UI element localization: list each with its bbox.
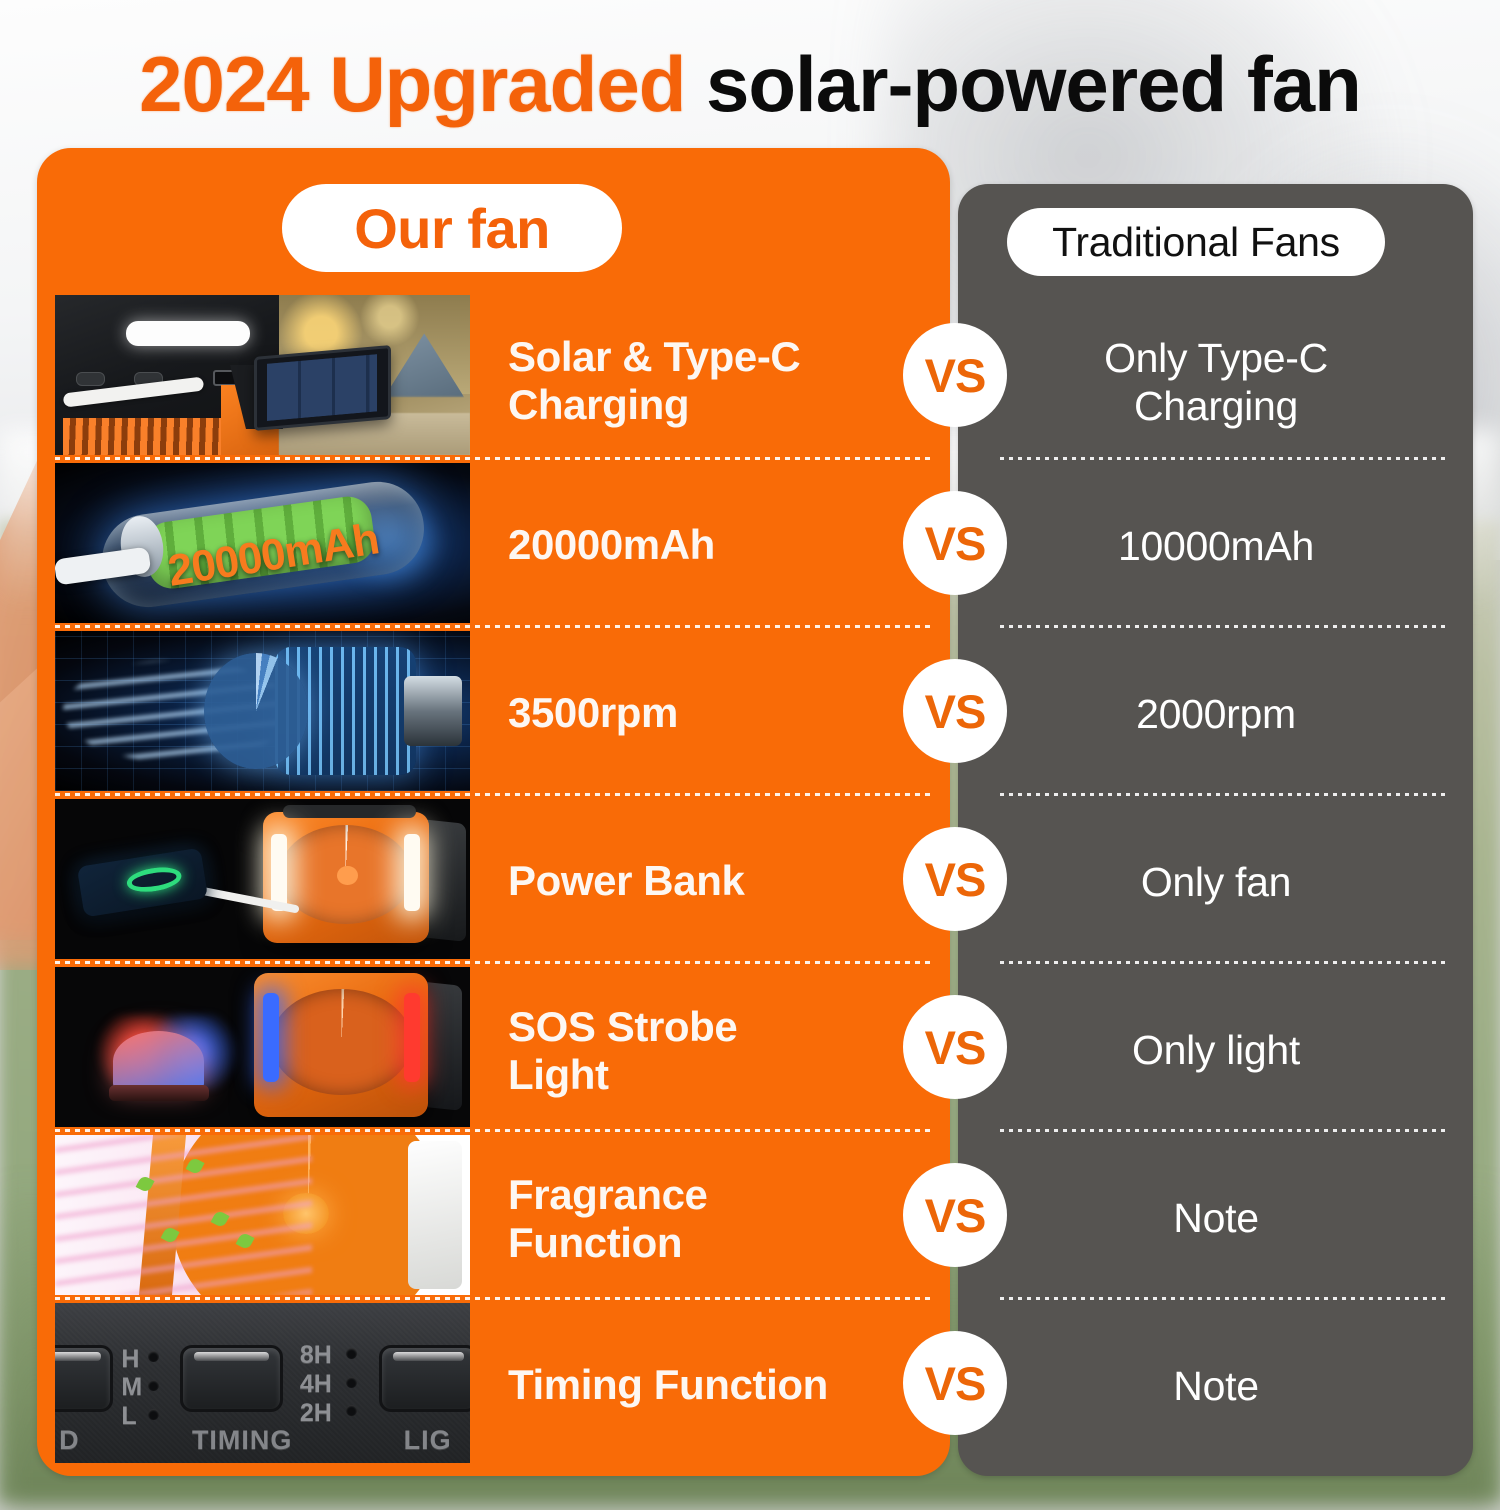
vs-badge: VS (903, 659, 1007, 763)
row-separator-right (1000, 793, 1450, 796)
traditional-value-line-1: 2000rpm (1000, 691, 1432, 739)
traditional-value: Only Type-C Charging (1000, 335, 1432, 430)
our-feature-line-1: Timing Function (508, 1361, 928, 1409)
vs-badge: VS (903, 1163, 1007, 1267)
our-feature-label: Power Bank (508, 857, 908, 905)
row-thumbnail-fragrance-function (55, 1135, 470, 1295)
row-thumbnail-solar-type-c-charging (55, 295, 470, 455)
row-separator-left (55, 457, 935, 460)
row-separator-right (1000, 1297, 1450, 1300)
vs-badge: VS (903, 827, 1007, 931)
traditional-fans-header-pill: Traditional Fans (1007, 208, 1385, 276)
timer-8h-label: 8H (300, 1341, 332, 1370)
our-feature-label: Solar & Type-C Charging (508, 333, 908, 429)
engrave-speed-label: D (59, 1425, 80, 1456)
traditional-value-line-1: Only Type-C (1000, 335, 1432, 383)
our-feature-line-1: Fragrance (508, 1171, 908, 1219)
comparison-row: H M L 8H 4H 2H D TIMING LIG Timing Funct… (0, 1303, 1500, 1463)
our-feature-label: Fragrance Function (508, 1171, 908, 1267)
speed-low-label: L (121, 1402, 136, 1431)
our-feature-label: Timing Function (508, 1361, 928, 1409)
our-feature-line-1: 3500rpm (508, 689, 908, 737)
row-separator-left (55, 625, 935, 628)
traditional-value-line-1: Note (1000, 1195, 1432, 1243)
row-thumbnail-power-bank (55, 799, 470, 959)
row-separator-right (1000, 1129, 1450, 1132)
engrave-light-label: LIG (404, 1425, 452, 1456)
traditional-value: Note (1000, 1195, 1432, 1243)
traditional-value: 10000mAh (1000, 523, 1432, 571)
row-separator-left (55, 961, 935, 964)
speed-mid-label: M (121, 1373, 142, 1402)
row-thumbnail-motor-airflow (55, 631, 470, 791)
engrave-timing-label: TIMING (192, 1425, 293, 1456)
our-feature-line-1: Power Bank (508, 857, 908, 905)
vs-badge: VS (903, 491, 1007, 595)
traditional-value-line-2: Charging (1000, 383, 1432, 431)
comparison-row: 20000mAh 20000mAh VS 10000mAh (0, 463, 1500, 623)
our-feature-line-2: Light (508, 1051, 908, 1099)
row-separator-left (55, 1129, 935, 1132)
our-feature-line-2: Function (508, 1219, 908, 1267)
our-feature-line-1: 20000mAh (508, 521, 908, 569)
our-fan-header-pill: Our fan (282, 184, 622, 272)
vs-badge: VS (903, 1331, 1007, 1435)
timer-4h-label: 4H (300, 1370, 332, 1399)
row-separator-right (1000, 961, 1450, 964)
comparison-row: SOS Strobe Light VS Only light (0, 967, 1500, 1127)
our-feature-label: SOS Strobe Light (508, 1003, 908, 1099)
row-thumbnail-timing-control-panel: H M L 8H 4H 2H D TIMING LIG (55, 1303, 470, 1463)
comparison-row: Solar & Type-C Charging VS Only Type-C C… (0, 295, 1500, 455)
traditional-value-line-1: 10000mAh (1000, 523, 1432, 571)
traditional-value-line-1: Note (1000, 1363, 1432, 1411)
row-separator-right (1000, 457, 1450, 460)
speed-high-label: H (121, 1345, 139, 1374)
comparison-row: 3500rpm VS 2000rpm (0, 631, 1500, 791)
our-feature-label: 3500rpm (508, 689, 908, 737)
traditional-value: Note (1000, 1363, 1432, 1411)
our-feature-label: 20000mAh (508, 521, 908, 569)
comparison-row: Power Bank VS Only fan (0, 799, 1500, 959)
row-thumbnail-battery-capacity: 20000mAh (55, 463, 470, 623)
traditional-value: Only light (1000, 1027, 1432, 1075)
traditional-value-line-1: Only light (1000, 1027, 1432, 1075)
traditional-value: Only fan (1000, 859, 1432, 907)
row-separator-left (55, 1297, 935, 1300)
row-separator-right (1000, 625, 1450, 628)
comparison-row: Fragrance Function VS Note (0, 1135, 1500, 1295)
vs-badge: VS (903, 323, 1007, 427)
row-separator-left (55, 793, 935, 796)
traditional-value-line-1: Only fan (1000, 859, 1432, 907)
our-feature-line-1: SOS Strobe (508, 1003, 908, 1051)
vs-badge: VS (903, 995, 1007, 1099)
traditional-value: 2000rpm (1000, 691, 1432, 739)
row-thumbnail-sos-strobe-light (55, 967, 470, 1127)
our-feature-line-2: Charging (508, 381, 908, 429)
timer-2h-label: 2H (300, 1399, 332, 1428)
our-feature-line-1: Solar & Type-C (508, 333, 908, 381)
